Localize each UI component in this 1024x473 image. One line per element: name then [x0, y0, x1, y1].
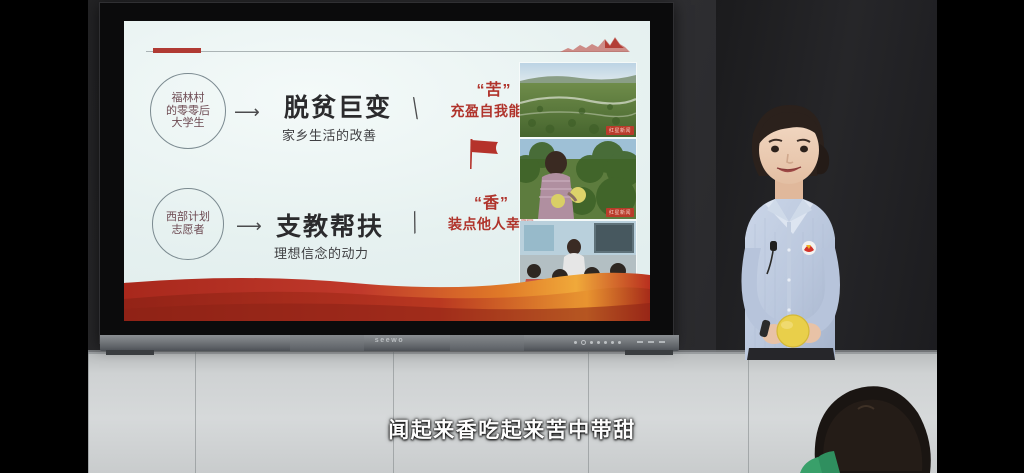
led-indicator: [574, 341, 577, 344]
bezel-mount: [106, 350, 154, 355]
whiteboard-bezel: seewo: [100, 335, 679, 351]
arrow-icon-1: ⟶: [234, 103, 260, 121]
headline-2: 支教帮扶: [276, 207, 384, 243]
indicator-led-row: [574, 340, 621, 345]
photo-watermark: 红星新闻: [606, 208, 634, 217]
connector-icon-1: ╲: [407, 98, 423, 120]
bezel-control-buttons[interactable]: [637, 341, 665, 343]
badge-icon: [802, 241, 816, 255]
subline-2: 理想信念的动力: [274, 243, 369, 262]
bezel-button[interactable]: [659, 341, 665, 343]
node-circle-2: 西部计划 志愿者: [152, 188, 224, 260]
led-indicator: [618, 341, 621, 344]
presentation-slide: 福林村 的零零后 大学生 ⟶ 脱贫巨变 家乡生活的改善 ╲ “苦” 充盈自我能力: [124, 21, 650, 321]
speaker-grille: [290, 335, 364, 351]
node-1-line-2: 的零零后: [166, 105, 210, 118]
led-indicator: [597, 341, 600, 344]
photo-watermark: 红星新闻: [606, 126, 634, 135]
bezel-mount: [625, 350, 673, 355]
classroom-scene: 福林村 的零零后 大学生 ⟶ 脱贫巨变 家乡生活的改善 ╲ “苦” 充盈自我能力: [88, 0, 937, 473]
subline-1: 家乡生活的改善: [282, 125, 377, 144]
keyword-1: “苦”: [476, 82, 511, 99]
node-circle-1: 福林村 的零零后 大学生: [150, 73, 226, 149]
slide-photo-pomelo-picking: 红星新闻: [520, 139, 636, 219]
bezel-button[interactable]: [648, 341, 654, 343]
video-frame: 福林村 的零零后 大学生 ⟶ 脱贫巨变 家乡生活的改善 ╲ “苦” 充盈自我能力: [0, 0, 1024, 473]
wall-seam: [393, 352, 394, 473]
presenter-figure: [703, 98, 873, 360]
headline-1: 脱贫巨变: [284, 88, 392, 124]
node-2-line-1: 西部计划: [166, 211, 210, 224]
slide-divider: [146, 51, 628, 52]
led-indicator: [611, 341, 614, 344]
brand-logo: seewo: [375, 337, 404, 344]
wall-seam: [88, 352, 89, 473]
wall-seam: [588, 352, 589, 473]
red-wave-decoration: [124, 269, 650, 321]
led-indicator: [590, 341, 593, 344]
letterbox-right: [937, 0, 1024, 473]
led-indicator: [581, 340, 586, 345]
keyword-2: “香”: [474, 195, 509, 212]
bezel-button[interactable]: [637, 341, 643, 343]
subtitle-caption: 闻起来香吃起来苦中带甜: [0, 414, 1024, 444]
arrow-icon-2: ⟶: [236, 217, 262, 235]
node-1-line-3: 大学生: [172, 117, 205, 130]
red-flag-icon: [464, 137, 504, 171]
node-2-line-2: 志愿者: [172, 224, 205, 237]
mountain-decoration-icon: [560, 35, 630, 52]
slide-photo-orchard: 红星新闻: [520, 63, 636, 137]
letterbox-left: [0, 0, 88, 473]
wall-seam: [748, 352, 749, 473]
led-indicator: [604, 341, 607, 344]
speaker-grille: [450, 335, 524, 351]
node-1-line-1: 福林村: [172, 92, 205, 105]
wall-seam: [195, 352, 196, 473]
whiteboard-screen[interactable]: 福林村 的零零后 大学生 ⟶ 脱贫巨变 家乡生活的改善 ╲ “苦” 充盈自我能力: [124, 21, 650, 321]
slide-accent-bar: [153, 48, 201, 53]
student-figure: [788, 325, 937, 473]
interactive-whiteboard[interactable]: 福林村 的零零后 大学生 ⟶ 脱贫巨变 家乡生活的改善 ╲ “苦” 充盈自我能力: [99, 2, 674, 344]
connector-icon-2: ╱: [406, 212, 424, 234]
